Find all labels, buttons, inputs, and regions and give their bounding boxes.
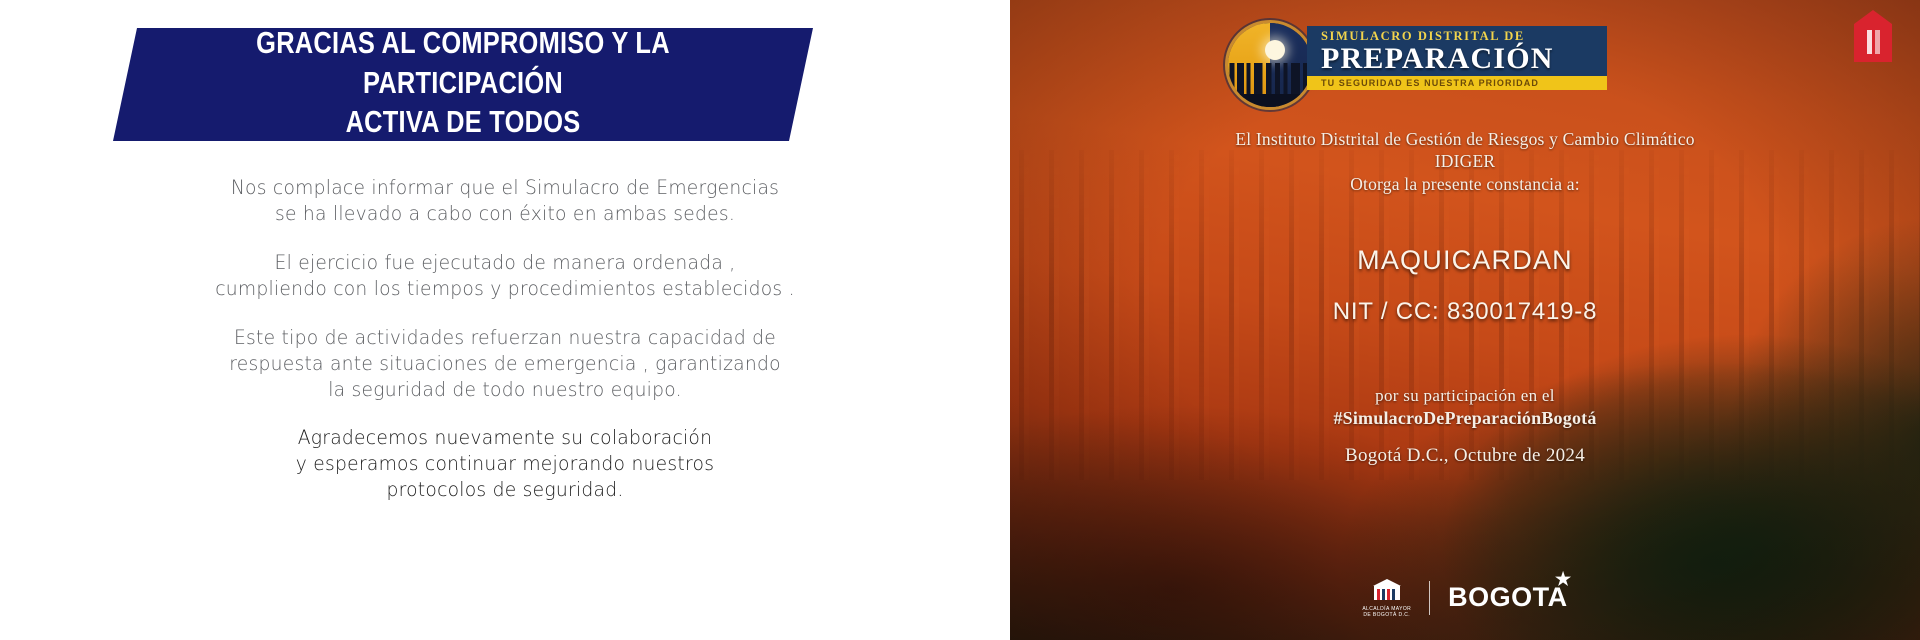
body-copy: Nos complace informar que el Simulacro d… bbox=[60, 175, 950, 503]
house-icon bbox=[1854, 10, 1892, 62]
logo-band-top: SIMULACRO DISTRITAL DE PREPARACIÓN bbox=[1307, 26, 1607, 76]
certificate-place-date: Bogotá D.C., Octubre de 2024 bbox=[1010, 445, 1920, 467]
star-icon: ★ bbox=[1555, 570, 1572, 588]
page-title: GRACIAS AL COMPROMISO Y LA PARTICIPACIÓN… bbox=[206, 23, 721, 142]
slide-left-panel: GRACIAS AL COMPROMISO Y LA PARTICIPACIÓN… bbox=[0, 0, 1010, 640]
paragraph: Nos complace informar que el Simulacro d… bbox=[78, 175, 932, 227]
paragraph: Este tipo de actividades refuerzan nuest… bbox=[78, 325, 932, 403]
bogota-wordmark-text: BOGOT bbox=[1448, 582, 1548, 612]
certificate-institute-text: El Instituto Distrital de Gestión de Rie… bbox=[1010, 128, 1920, 195]
simulacro-logo-lockup: SIMULACRO DISTRITAL DE PREPARACIÓN TU SE… bbox=[1225, 12, 1755, 107]
alcaldia-shield-icon bbox=[1372, 578, 1402, 604]
certificate-footer-logos: ALCALDÍA MAYOR DE BOGOTÁ D.C. BOGOTA ★ bbox=[1010, 578, 1920, 619]
certificate-image: SIMULACRO DISTRITAL DE PREPARACIÓN TU SE… bbox=[1010, 0, 1920, 640]
alcaldia-mayor-logo: ALCALDÍA MAYOR DE BOGOTÁ D.C. bbox=[1362, 578, 1411, 619]
emblem-ground bbox=[1228, 94, 1312, 107]
bogota-wordmark: BOGOTA ★ bbox=[1448, 582, 1568, 613]
footer-divider bbox=[1429, 581, 1430, 615]
certificate-participation-label: por su participación en el bbox=[1010, 386, 1920, 406]
paragraph: El ejercicio fue ejecutado de manera ord… bbox=[78, 250, 932, 302]
certificate-text-block: El Instituto Distrital de Gestión de Rie… bbox=[1010, 128, 1920, 467]
emblem-moon bbox=[1265, 40, 1285, 60]
alcaldia-caption: ALCALDÍA MAYOR DE BOGOTÁ D.C. bbox=[1362, 606, 1411, 619]
certificate-hashtag: #SimulacroDePreparaciónBogotá bbox=[1010, 408, 1920, 429]
title-banner: GRACIAS AL COMPROMISO Y LA PARTICIPACIÓN… bbox=[113, 28, 813, 141]
certificate-recipient-name: MAQUICARDAN bbox=[1010, 245, 1920, 276]
logo-tagline: TU SEGURIDAD ES NUESTRA PRIORIDAD bbox=[1307, 76, 1607, 90]
paragraph-emphasis: Agradecemos nuevamente su colaboración y… bbox=[78, 425, 932, 503]
city-skyline-emblem-icon bbox=[1225, 20, 1315, 110]
certificate-nit: NIT / CC: 830017419-8 bbox=[1010, 298, 1920, 326]
logo-banner: SIMULACRO DISTRITAL DE PREPARACIÓN TU SE… bbox=[1307, 26, 1607, 90]
logo-line-big: PREPARACIÓN bbox=[1321, 44, 1595, 74]
